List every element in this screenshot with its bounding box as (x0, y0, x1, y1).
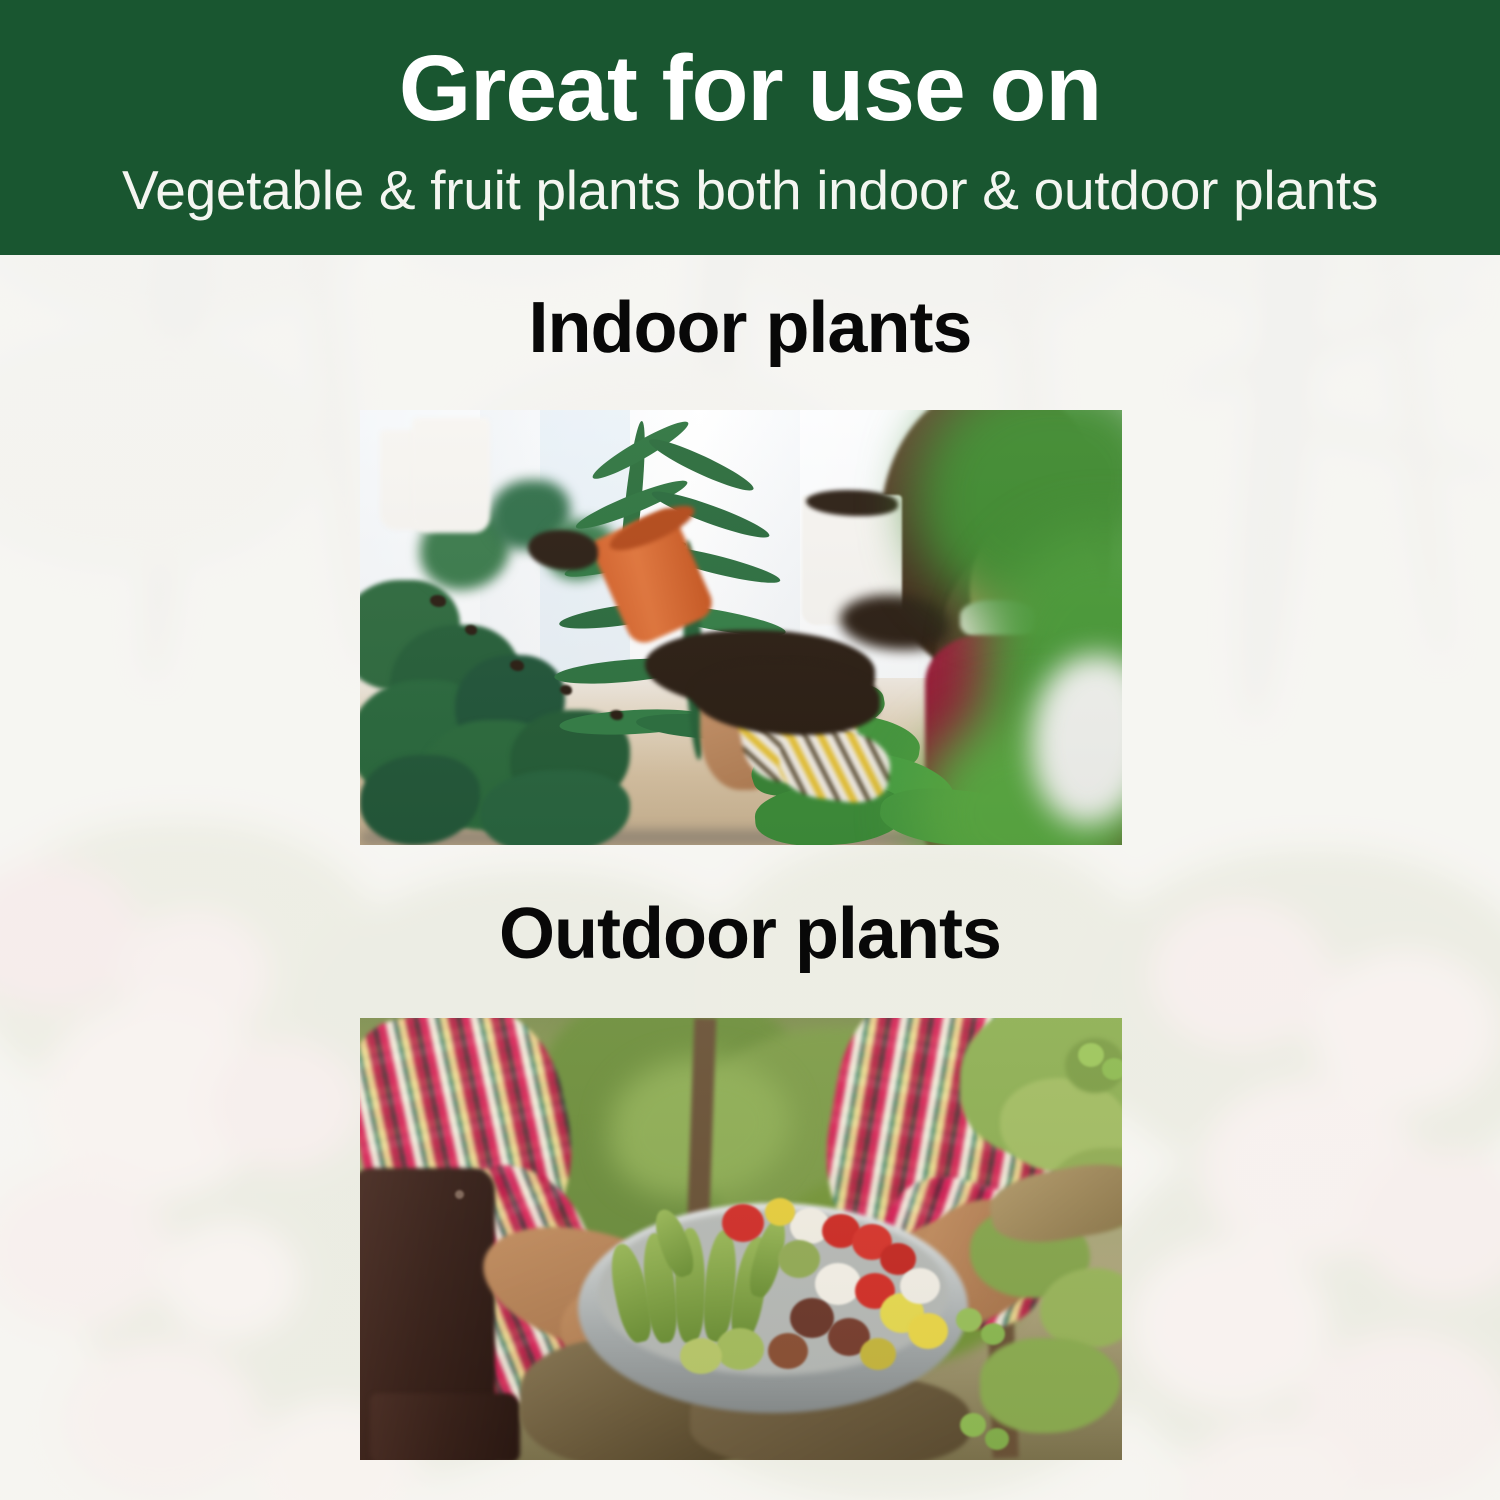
header-banner: Great for use on Vegetable & fruit plant… (0, 0, 1500, 255)
section-heading-indoor: Indoor plants (0, 292, 1500, 364)
page-title: Great for use on (399, 42, 1101, 135)
outdoor-plants-photo (360, 1018, 1122, 1460)
page-subtitle: Vegetable & fruit plants both indoor & o… (122, 163, 1378, 218)
section-heading-outdoor: Outdoor plants (0, 898, 1500, 970)
infographic-page: Great for use on Vegetable & fruit plant… (0, 0, 1500, 1500)
indoor-plants-photo (360, 410, 1122, 845)
